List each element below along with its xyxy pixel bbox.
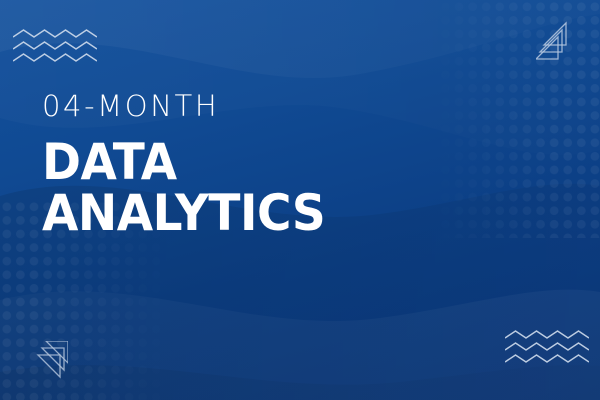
page-title: DATA ANALYTICS: [42, 137, 325, 239]
stacked-triangles-top-right-icon: [536, 21, 580, 65]
banner-text-block: 04-MONTH DATA ANALYTICS: [42, 92, 343, 239]
page-title-line-2: ANALYTICS: [42, 188, 325, 239]
course-banner: 04-MONTH DATA ANALYTICS: [0, 0, 600, 400]
page-title-line-1: DATA: [42, 137, 325, 188]
zigzag-waves-bottom-right-icon: [505, 330, 589, 366]
stacked-triangles-bottom-left-icon: [24, 341, 68, 385]
zigzag-waves-top-left-icon: [13, 29, 97, 65]
banner-eyebrow: 04-MONTH: [42, 92, 343, 121]
